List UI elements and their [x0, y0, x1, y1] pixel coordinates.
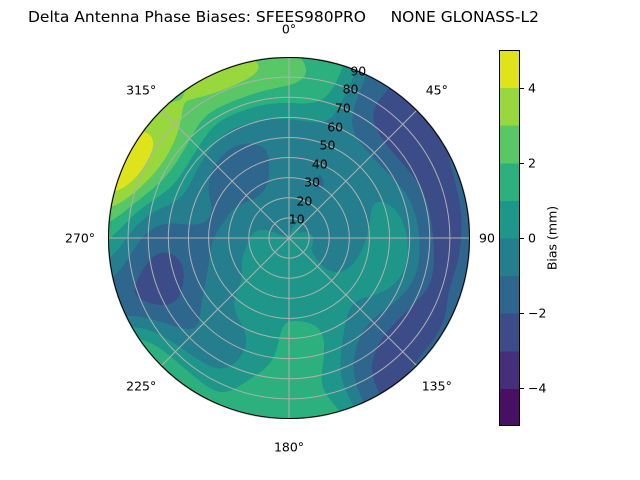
- polar-axes: [108, 57, 470, 419]
- colorbar-tick-mark: [520, 163, 524, 164]
- radial-tick-label: 70: [335, 100, 351, 115]
- radial-tick-label: 50: [320, 138, 336, 153]
- colorbar-tick-mark: [520, 88, 524, 89]
- polar-field-clip: [108, 57, 470, 419]
- figure-root: Delta Antenna Phase Biases: SFEES980PRO …: [0, 0, 640, 480]
- colorbar-tick-label: −2: [528, 306, 546, 321]
- colorbar-tick-mark: [520, 313, 524, 314]
- radial-tick-label: 60: [327, 119, 343, 134]
- radial-tick-label: 20: [296, 193, 312, 208]
- colorbar-tick-mark: [520, 388, 524, 389]
- radial-tick-label: 30: [304, 175, 320, 190]
- figure-title: Delta Antenna Phase Biases: SFEES980PRO …: [0, 8, 640, 26]
- radial-tick-label: 40: [312, 156, 328, 171]
- theta-tick-label: 225°: [126, 378, 156, 393]
- colorbar-tick-label: 0: [528, 231, 536, 246]
- theta-tick-label: 270°: [65, 231, 95, 246]
- radial-tick-label: 80: [343, 82, 359, 97]
- radial-tick-label: 90: [350, 63, 366, 78]
- colorbar-tick-label: 2: [528, 155, 536, 170]
- colorbar: [499, 50, 520, 426]
- colorbar-tick-mark: [520, 238, 524, 239]
- colorbar-axis-label: Bias (mm): [545, 206, 560, 270]
- theta-tick-label: 90: [479, 231, 495, 246]
- colorbar-gradient: [499, 50, 520, 426]
- colorbar-tick-label: −4: [528, 381, 546, 396]
- theta-tick-label: 0°: [282, 22, 296, 37]
- theta-tick-label: 180°: [274, 440, 304, 455]
- theta-tick-label: 315°: [126, 83, 156, 98]
- theta-tick-label: 45°: [426, 83, 448, 98]
- theta-tick-label: 135°: [422, 378, 452, 393]
- radial-tick-label: 10: [289, 212, 305, 227]
- polar-contour-field: [108, 57, 470, 419]
- colorbar-tick-label: 4: [528, 80, 536, 95]
